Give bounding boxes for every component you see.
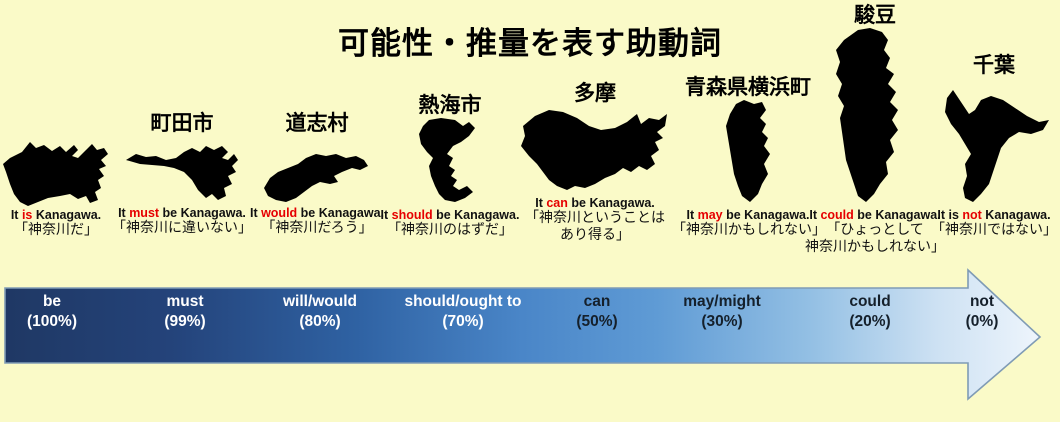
map-shape-tama	[515, 104, 675, 196]
arrow-word: should/ought to	[404, 293, 521, 310]
tama-silhouette	[519, 104, 671, 196]
arrow-word: be	[43, 293, 61, 310]
sentence-prefix: It	[809, 208, 820, 222]
column-must: 町田市 It must be Kanagawa. 「神奈川に違いない」	[108, 112, 256, 237]
arrow-word: could	[849, 293, 890, 310]
arrow-label-will-would: will/would (80%)	[256, 292, 384, 332]
arrow-label-must: must (99%)	[133, 292, 237, 332]
sentence-can: It can be Kanagawa.	[515, 196, 675, 210]
map-shape-chiba	[928, 76, 1060, 208]
sentence-would: It would be Kanagawa.	[243, 206, 391, 220]
arrow-word: can	[584, 293, 611, 310]
region-label: 駿豆	[805, 4, 945, 26]
arrow-percent: (50%)	[545, 312, 649, 332]
arrow-word: will/would	[283, 293, 357, 310]
modal-word: could	[820, 208, 853, 222]
column-not: 千葉 It is not Kanagawa. 「神奈川ではない」	[928, 54, 1060, 239]
map-shape-yokohama-town	[672, 98, 824, 208]
sentence-suffix: be Kanagawa.	[568, 196, 655, 210]
sentence-should: It should be Kanagawa.	[376, 208, 524, 222]
arrow-body	[5, 270, 1040, 399]
column-may: 青森県横浜町 It may be Kanagawa. 「神奈川かもしれない」	[672, 76, 824, 239]
arrow-label-can: can (50%)	[545, 292, 649, 332]
sentence-prefix: It	[11, 208, 22, 222]
modal-word: should	[392, 208, 433, 222]
map-shape-sunzu	[805, 26, 945, 208]
region-label: 多摩	[515, 82, 675, 104]
gloss-must: 「神奈川に違いない」	[108, 220, 256, 236]
gloss-should: 「神奈川のはずだ」	[376, 222, 524, 238]
sentence-suffix: be Kanagawa.	[159, 206, 246, 220]
sentence-prefix: It	[381, 208, 392, 222]
gloss-can: 「神奈川ということは あり得る」	[515, 210, 675, 242]
column-could: 駿豆 It could be Kanagawa. 「ひょっとして 神奈川かもしれ…	[805, 4, 945, 255]
arrow-label-may-might: may/might (30%)	[656, 292, 788, 332]
arrow-graphic	[0, 262, 1060, 407]
kanagawa-prefecture-silhouette	[0, 136, 112, 208]
arrow-percent: (0%)	[930, 312, 1034, 332]
doshi-village-silhouette	[256, 134, 378, 206]
arrow-percent: (20%)	[818, 312, 922, 332]
modal-word: can	[546, 196, 568, 210]
sentence-prefix: It	[250, 206, 261, 220]
column-be: It is Kanagawa. 「神奈川だ」	[0, 136, 120, 238]
map-shape-machida	[108, 134, 256, 206]
sentence-prefix: It	[535, 196, 546, 210]
sentence-prefix: It is	[937, 208, 962, 222]
yokohama-town-aomori-silhouette	[720, 98, 776, 208]
arrow-word: must	[166, 293, 203, 310]
region-label: 熱海市	[376, 94, 524, 116]
region-label: 道志村	[243, 112, 391, 134]
sentence-may: It may be Kanagawa.	[672, 208, 824, 222]
arrow-label-should-ought-to: should/ought to (70%)	[380, 292, 546, 332]
modal-word: is	[22, 208, 32, 222]
arrow-percent: (70%)	[380, 312, 546, 332]
modal-word: would	[261, 206, 297, 220]
sunzu-silhouette	[830, 26, 920, 208]
column-would: 道志村 It would be Kanagawa. 「神奈川だろう」	[243, 112, 391, 237]
sentence-could: It could be Kanagawa.	[805, 208, 945, 222]
map-shape-atami	[376, 116, 524, 208]
sentence-be: It is Kanagawa.	[0, 208, 120, 222]
sentence-suffix: Kanagawa.	[982, 208, 1051, 222]
sentence-prefix: It	[687, 208, 698, 222]
sentence-suffix: be Kanagawa.	[723, 208, 810, 222]
map-shape-doshi	[243, 134, 391, 206]
region-label: 町田市	[108, 112, 256, 134]
chiba-prefecture-silhouette	[935, 76, 1053, 208]
region-label: 青森県横浜町	[672, 76, 824, 98]
sentence-must: It must be Kanagawa.	[108, 206, 256, 220]
arrow-label-could: could (20%)	[818, 292, 922, 332]
probability-scale-arrow: be (100%) must (99%) will/would (80%) sh…	[0, 262, 1060, 407]
arrow-label-be: be (100%)	[0, 292, 104, 332]
modal-word: may	[698, 208, 723, 222]
modal-word: not	[962, 208, 981, 222]
column-should: 熱海市 It should be Kanagawa. 「神奈川のはずだ」	[376, 94, 524, 239]
arrow-word: not	[970, 293, 994, 310]
sentence-suffix: Kanagawa.	[32, 208, 101, 222]
atami-city-silhouette	[407, 116, 493, 208]
map-shape-kanagawa	[0, 136, 120, 208]
arrow-percent: (30%)	[656, 312, 788, 332]
gloss-may: 「神奈川かもしれない」	[672, 222, 824, 238]
sentence-suffix: be Kanagawa.	[433, 208, 520, 222]
arrow-percent: (100%)	[0, 312, 104, 332]
gloss-would: 「神奈川だろう」	[243, 220, 391, 236]
arrow-word: may/might	[683, 293, 761, 310]
modal-word: must	[129, 206, 159, 220]
arrow-label-not: not (0%)	[930, 292, 1034, 332]
sentence-prefix: It	[118, 206, 129, 220]
machida-city-silhouette	[122, 134, 242, 206]
sentence-not: It is not Kanagawa.	[928, 208, 1060, 222]
gloss-could: 「ひょっとして 神奈川かもしれない」	[805, 222, 945, 254]
sentence-suffix: be Kanagawa.	[297, 206, 384, 220]
arrow-percent: (80%)	[256, 312, 384, 332]
slide-canvas: 可能性・推量を表す助動詞 It is Kanagawa. 「神奈川だ」 町田市 …	[0, 0, 1060, 422]
gloss-not: 「神奈川ではない」	[928, 222, 1060, 238]
arrow-percent: (99%)	[133, 312, 237, 332]
column-can: 多摩 It can be Kanagawa. 「神奈川ということは あり得る」	[515, 82, 675, 243]
gloss-be: 「神奈川だ」	[0, 222, 120, 238]
region-label: 千葉	[928, 54, 1060, 76]
